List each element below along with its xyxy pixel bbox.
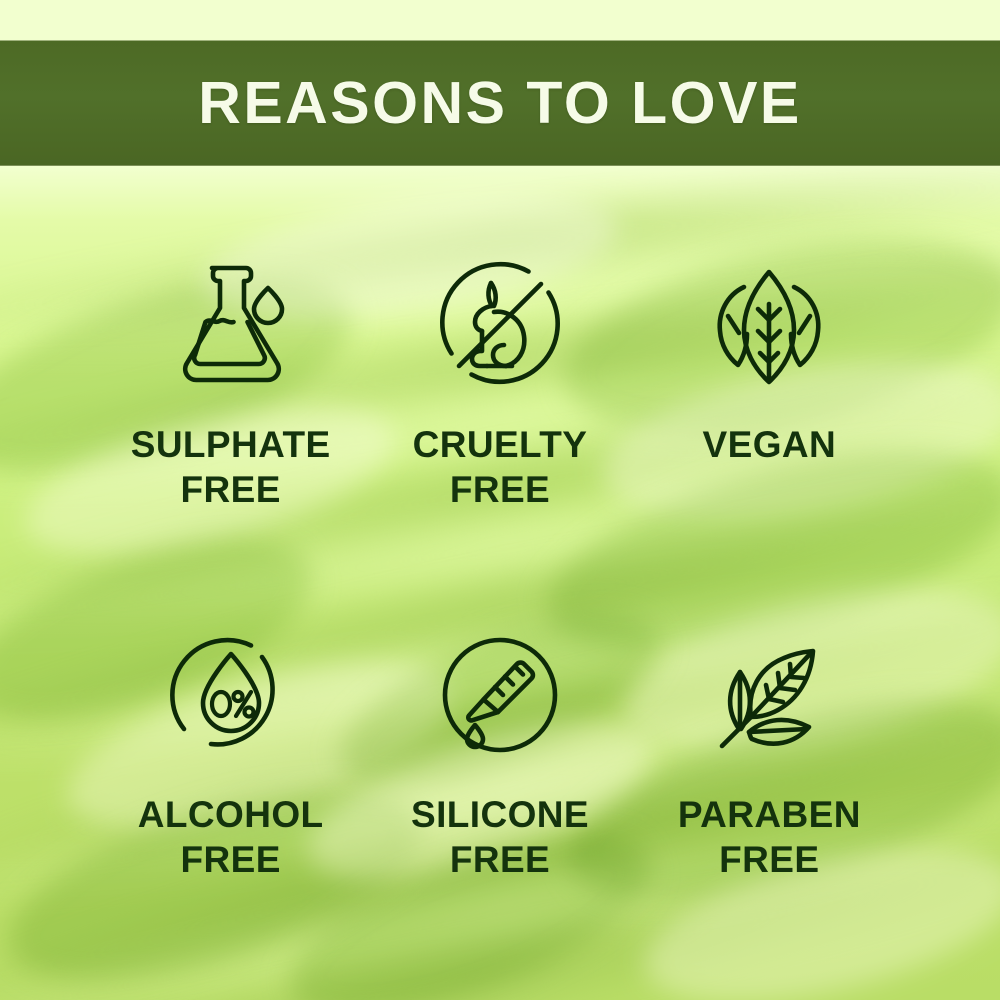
badge-label-line2: FREE — [719, 839, 819, 880]
badge-label-line1: SILICONE — [411, 794, 589, 835]
banner-header: REASONS TO LOVE — [0, 41, 1000, 165]
page-title: REASONS TO LOVE — [198, 74, 802, 133]
badge-label-line1: PARABEN — [678, 794, 861, 835]
badge-label-line1: VEGAN — [703, 424, 837, 465]
badge-label-line2: FREE — [181, 469, 281, 510]
badge-label-line2: FREE — [450, 469, 550, 510]
flask-droplet-icon — [156, 250, 306, 400]
badge-label-line1: CRUELTY — [413, 424, 588, 465]
leaf-branch-icon — [694, 620, 844, 770]
badge-label: ALCOHOL FREE — [138, 792, 324, 882]
zero-percent-droplet-icon — [156, 620, 306, 770]
badge-label: CRUELTY FREE — [413, 422, 588, 512]
dropper-pipette-icon — [425, 620, 575, 770]
badge-alcohol-free: ALCOHOL FREE — [96, 620, 365, 882]
badge-label: SULPHATE FREE — [131, 422, 331, 512]
badge-silicone-free: SILICONE FREE — [365, 620, 634, 882]
badge-label-line2: FREE — [450, 839, 550, 880]
benefits-grid: SULPHATE FREE — [96, 250, 904, 883]
badge-cruelty-free: CRUELTY FREE — [365, 250, 634, 512]
badge-label: SILICONE FREE — [411, 792, 589, 882]
badge-paraben-free: PARABEN FREE — [635, 620, 904, 882]
badge-label-line1: ALCOHOL — [138, 794, 324, 835]
no-rabbit-icon — [425, 250, 575, 400]
badge-label: VEGAN — [703, 422, 837, 467]
promo-graphic: REASONS TO LOVE SULPHATE FREE — [0, 0, 1000, 1000]
three-leaves-icon — [694, 250, 844, 400]
badge-label-line1: SULPHATE — [131, 424, 331, 465]
badge-sulphate-free: SULPHATE FREE — [96, 250, 365, 512]
badge-label-line2: FREE — [181, 839, 281, 880]
badge-label: PARABEN FREE — [678, 792, 861, 882]
badge-vegan: VEGAN — [635, 250, 904, 512]
